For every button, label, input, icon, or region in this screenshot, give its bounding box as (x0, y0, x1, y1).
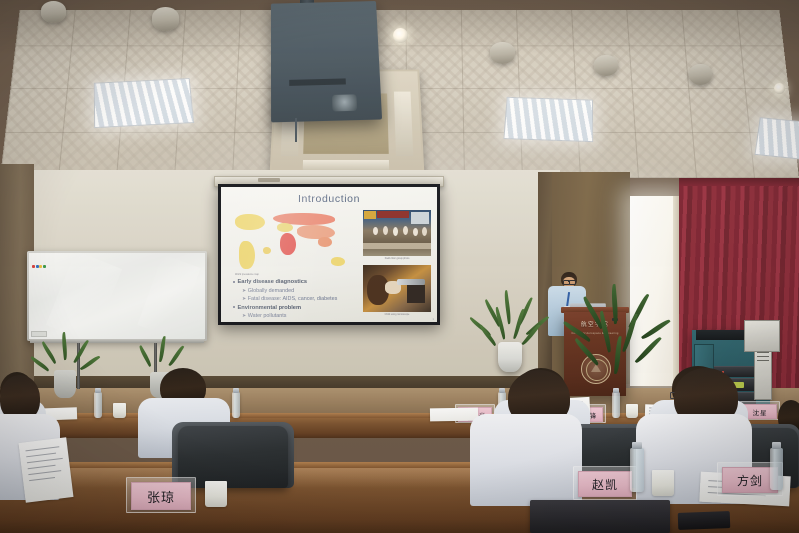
slide-photo-top (363, 210, 431, 256)
placard-back-3: 沈星 (743, 404, 777, 419)
slide-photo-bottom-caption: Child using microscope (363, 313, 431, 316)
slide-page-number: 1 (432, 317, 434, 321)
plant-center (484, 286, 536, 372)
water-bottle-f2 (770, 448, 783, 490)
placard-front-2: 赵凯 (578, 471, 632, 497)
smartphone-on-table[interactable] (678, 511, 731, 530)
ceiling-panel-light-right (503, 97, 593, 142)
slide-world-map: World prevalence map (233, 211, 355, 277)
placard-holder-front-1[interactable]: 张琼 (126, 477, 196, 513)
ceiling-speaker-2 (152, 7, 179, 31)
slide-bullet-list: Early disease diagnostics ➤Globally dema… (233, 279, 361, 322)
projector-cable (295, 118, 297, 142)
water-bottle-b2 (232, 392, 240, 418)
presentation-slide: Introduction World prevalence map (221, 187, 437, 322)
slide-bullet-4: Environmental problem (238, 305, 302, 311)
slide-photo-bottom (363, 265, 431, 312)
bottle-cap-b2 (233, 388, 239, 393)
slide-bullet-1: Early disease diagnostics (238, 279, 308, 285)
slide-photo-top-caption: Field clinic group photo (363, 257, 431, 260)
wall-column (538, 172, 552, 384)
bottle-cap-b3 (499, 388, 505, 393)
ceiling-panel-light-left (94, 78, 194, 128)
bottle-cap-b4 (613, 388, 619, 393)
whiteboard (27, 251, 207, 341)
plant-left-1 (44, 330, 88, 400)
bottle-cap-f1 (632, 442, 642, 449)
wall-control-panel (744, 320, 780, 352)
paper-cup-b2 (626, 404, 638, 418)
bottle-cap-f2 (772, 442, 781, 449)
water-bottle-b4 (612, 392, 620, 418)
ceiling-speaker-5 (689, 64, 712, 85)
plant-right (584, 284, 652, 396)
placard-front-1: 张琼 (131, 482, 191, 510)
attendee-body-front-2 (470, 414, 582, 506)
ceiling-speaker-1 (41, 1, 66, 23)
wall-baseboard (34, 376, 540, 388)
paper-cup-f2 (652, 470, 674, 496)
slide-bullet-3: Fatal disease: AIDS, cancer, diabetes (248, 296, 338, 302)
projector-screen: Introduction World prevalence map (218, 184, 440, 325)
ceiling-downlight-3 (774, 83, 785, 94)
rack-side-panel (754, 344, 772, 400)
paper-cup-b1 (113, 403, 126, 418)
curtain-rail (679, 178, 799, 186)
paper-cup-f1 (205, 481, 227, 507)
paper-back-2 (430, 408, 478, 422)
slide-title: Introduction (221, 193, 437, 205)
conference-room-photo: Introduction World prevalence map (0, 0, 799, 533)
slide-bullet-5: Water pollutants (248, 313, 287, 319)
water-bottle-f1 (630, 448, 644, 492)
slide-bullet-6: Lack of facilities (248, 322, 286, 323)
ceiling-panel-light-far-right (754, 117, 799, 160)
slide-bullet-2: Globally demanded (248, 288, 294, 294)
bottle-cap-b1 (95, 388, 101, 393)
laptop-on-table[interactable] (530, 500, 670, 533)
ceiling-speaker-4 (594, 55, 618, 76)
paper-front-1 (19, 437, 74, 502)
ceiling-projector (271, 1, 382, 122)
water-bottle-b1 (94, 392, 102, 418)
ceiling-speaker-3 (490, 42, 515, 64)
slide-map-caption: World prevalence map (235, 273, 353, 276)
screen-bracket (258, 178, 280, 182)
ceiling-downlight-1 (393, 28, 408, 43)
placard-holder-front-2[interactable]: 赵凯 (573, 466, 637, 500)
